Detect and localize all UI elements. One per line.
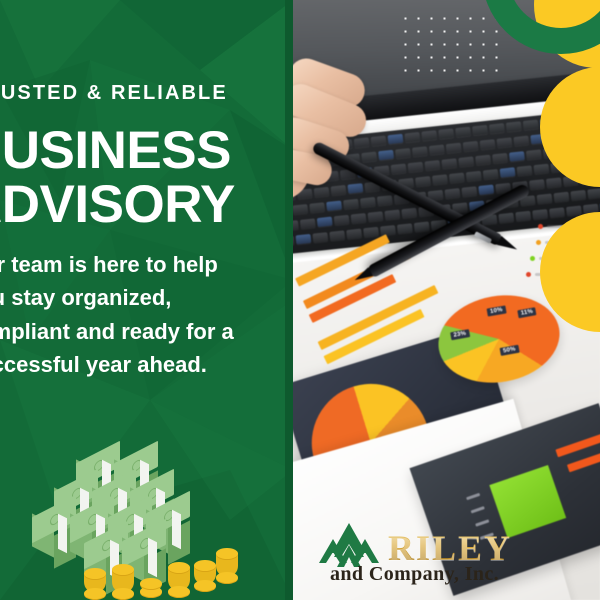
pie-slice-label: 11% [517, 307, 536, 318]
dot-grid-icon [399, 12, 499, 74]
dashboard-orange-bar [567, 450, 600, 472]
advertisement-canvas: 23% 10% 11% 50% [0, 0, 600, 600]
body-copy-line: compliant and ready for a [0, 315, 266, 348]
panel-edge [285, 0, 293, 600]
body-copy-line: you stay organized, [0, 281, 266, 314]
riley-logo: RILEY and Company, Inc. [316, 521, 516, 591]
body-copy: Our team is here to help you stay organi… [0, 248, 266, 382]
dashboard-orange-bar [555, 431, 600, 457]
dashboard-tick [471, 506, 485, 513]
body-copy-line: successful year ahead. [0, 348, 266, 381]
pie-slice-label: 10% [487, 305, 507, 316]
eyebrow-text: TRUSTED & RELIABLE [0, 82, 228, 105]
dashboard-tick [466, 493, 480, 500]
green-copy-panel: TRUSTED & RELIABLE BUSINESS ADVISORY Our… [0, 0, 293, 600]
money-stacks-illustration [18, 440, 218, 595]
headline-line-2: ADVISORY [0, 178, 235, 231]
headline-line-1: BUSINESS [0, 124, 231, 177]
body-copy-line: Our team is here to help [0, 248, 266, 281]
pie-slice-label: 50% [500, 345, 520, 356]
pie-slice-label: 23% [450, 329, 470, 340]
logo-tagline: and Company, Inc. [330, 563, 499, 586]
